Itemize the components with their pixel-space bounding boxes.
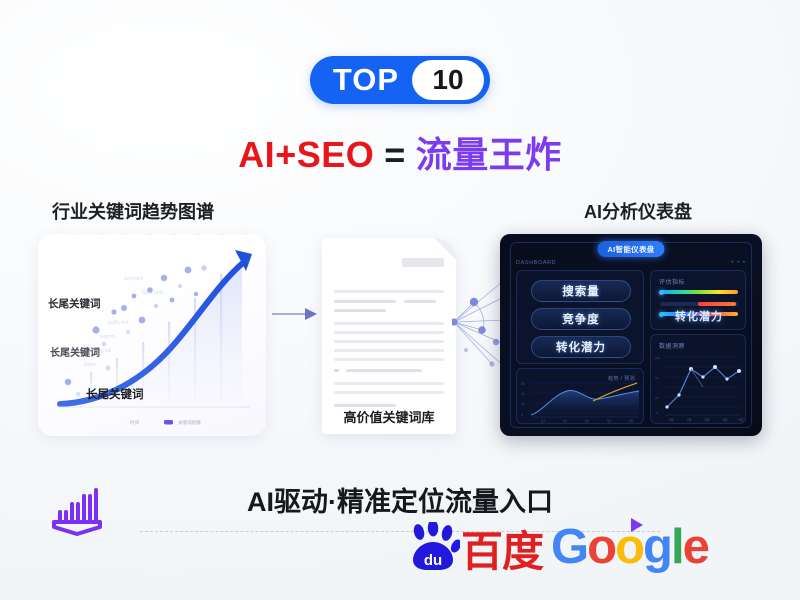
google-letter-e: e: [683, 520, 708, 574]
keyword-trend-chart-card: keyword SEO rank traffic vol search long…: [38, 234, 266, 436]
dashboard-menu-icon[interactable]: • • •: [731, 260, 746, 266]
gauge-overlay-label: 转化潜力: [651, 308, 747, 324]
growth-bar-icon: [46, 482, 108, 545]
baidu-logo: du 百度: [408, 522, 543, 572]
svg-text:Q4: Q4: [607, 419, 612, 423]
svg-text:60: 60: [521, 392, 525, 396]
svg-text:8月: 8月: [240, 234, 247, 236]
keyword-library-document: 高价值关键词库: [322, 238, 456, 434]
svg-text:20: 20: [655, 396, 659, 400]
google-letter-o1: o: [587, 520, 615, 574]
top-badge-word: TOP: [310, 62, 412, 98]
keyword-label: 长尾关键词: [48, 296, 101, 311]
doc-header-chip: [402, 258, 444, 267]
section-heading-left: 行业关键词趋势图谱: [52, 198, 214, 224]
gauge-bar-alert: [698, 302, 736, 306]
score-gauge-panel: 评估指标 转化潜力: [650, 270, 746, 330]
play-triangle-icon: [631, 518, 643, 532]
bottom-tagline: AI驱动·精准定位流量入口: [150, 480, 650, 519]
svg-text:0: 0: [521, 413, 523, 417]
google-letter-l: l: [671, 520, 683, 574]
svg-text:4周: 4周: [723, 417, 728, 422]
keyword-label: 长尾关键词: [50, 344, 100, 359]
google-logo: Google: [551, 524, 708, 571]
trend-chart-svg: keyword SEO rank traffic vol search long…: [38, 234, 266, 436]
gauge-panel-title: 评估指标: [659, 277, 685, 286]
baidu-chinese-text: 百度: [461, 533, 543, 572]
baidu-du-text: du: [424, 552, 442, 569]
document-caption: 高价值关键词库: [322, 407, 456, 426]
svg-text:2月: 2月: [96, 234, 103, 236]
gauge-bar-primary: [660, 290, 738, 294]
pill-search-volume[interactable]: 搜索量: [531, 280, 631, 302]
area-chart-legend: 趋势 / 预测: [608, 375, 635, 382]
line-panel-title: 数据洞察: [659, 341, 685, 350]
svg-text:3周: 3周: [705, 417, 710, 422]
svg-text:keyword: keyword: [124, 276, 143, 282]
pill-conversion-potential[interactable]: 转化潜力: [531, 336, 631, 358]
google-letter-g1: G: [551, 520, 587, 574]
svg-text:60: 60: [655, 376, 659, 380]
page-title: AI+SEO=流量王炸: [0, 126, 800, 178]
svg-text:SEO rank: SEO rank: [142, 290, 164, 296]
svg-text:Q3: Q3: [585, 419, 590, 423]
svg-text:关键词指数: 关键词指数: [178, 419, 201, 426]
svg-text:6月: 6月: [192, 234, 199, 236]
svg-text:时间: 时间: [130, 419, 140, 426]
svg-text:5周: 5周: [739, 417, 744, 422]
svg-text:1月: 1月: [72, 234, 79, 236]
keyword-label: 长尾关键词: [86, 386, 144, 402]
gauge-handle-icon[interactable]: [659, 290, 664, 295]
svg-text:7月: 7月: [216, 234, 223, 236]
google-letter-g2: g: [643, 520, 671, 574]
svg-text:Q5: Q5: [629, 419, 634, 423]
partner-logos: du 百度 Google: [408, 522, 708, 572]
svg-text:Q2: Q2: [563, 419, 568, 423]
trend-area-panel: 趋势 / 预测 Q1Q2 Q3Q4Q5: [516, 368, 644, 424]
dashboard-brand-label: DASHBOARD: [516, 260, 556, 266]
svg-text:100: 100: [655, 356, 660, 360]
pill-competition[interactable]: 竞争度: [531, 308, 631, 330]
svg-text:4月: 4月: [144, 234, 151, 236]
section-heading-right: AI分析仪表盘: [584, 198, 692, 224]
ai-dashboard: AI智能仪表盘 DASHBOARD • • • 搜索量 竞争度 转化潜力 趋势 …: [500, 234, 762, 436]
svg-text:traffic vol: traffic vol: [108, 320, 128, 326]
svg-text:search: search: [100, 334, 115, 340]
svg-text:index: index: [84, 362, 96, 368]
baidu-paw-icon: du: [408, 522, 460, 572]
svg-text:5月: 5月: [168, 234, 175, 236]
svg-text:40: 40: [521, 402, 525, 406]
svg-text:3月: 3月: [120, 234, 127, 236]
svg-text:2周: 2周: [687, 417, 692, 422]
insight-line-panel: 数据洞察 1周2周: [650, 334, 746, 424]
top-rank-badge: TOP 10: [310, 56, 490, 104]
page-fold-corner: [434, 238, 456, 260]
title-left: AI+SEO: [238, 134, 374, 175]
svg-text:80: 80: [521, 382, 525, 386]
top-badge-number: 10: [412, 60, 484, 100]
title-equals: =: [384, 134, 406, 175]
svg-text:0: 0: [656, 411, 658, 415]
flow-arrow-icon: [272, 306, 318, 327]
metric-pills-panel: 搜索量 竞争度 转化潜力: [516, 270, 644, 364]
title-right: 流量王炸: [416, 134, 562, 175]
svg-text:Q1: Q1: [541, 419, 546, 423]
dashboard-title-badge: AI智能仪表盘: [597, 241, 664, 257]
svg-text:1周: 1周: [669, 417, 674, 422]
